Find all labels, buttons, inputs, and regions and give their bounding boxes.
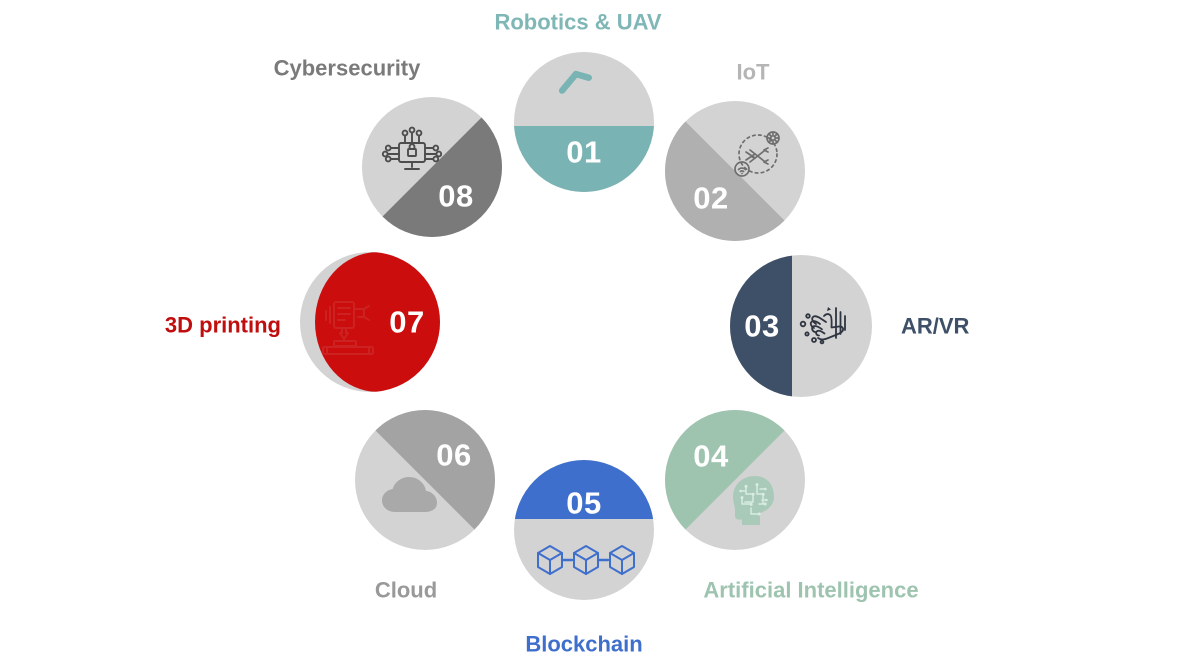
node-03-number: 03 [744,309,779,344]
node-04-artificial-intelligence[interactable]: 04 Artificial Intelligence [665,410,919,603]
node-01-number: 01 [566,135,601,170]
infographic-stage: 01 Robotics & UAV 02 IoT 03 AR/VR [0,0,1200,670]
node-02-iot[interactable]: 02 IoT [665,60,805,242]
node-04-label: Artificial Intelligence [703,578,918,603]
node-06-number: 06 [436,438,471,473]
node-08-label: Cybersecurity [274,56,422,81]
node-02-label: IoT [737,60,771,85]
node-08-number: 08 [438,179,473,214]
node-01-label: Robotics & UAV [494,10,661,35]
node-01-robotics-uav[interactable]: 01 Robotics & UAV [494,10,661,197]
node-05-label: Blockchain [525,632,642,657]
node-03-ar-vr[interactable]: 03 AR/VR [730,255,970,397]
node-06-label: Cloud [375,578,437,603]
node-02-number: 02 [693,181,728,216]
node-05-number: 05 [566,486,601,521]
node-07-number: 07 [389,305,424,340]
node-04-number: 04 [693,439,729,474]
circular-technology-diagram: 01 Robotics & UAV 02 IoT 03 AR/VR [0,0,1200,670]
node-07-3d-printing[interactable]: 07 3D printing [165,252,440,392]
node-08-cybersecurity[interactable]: 08 Cybersecurity [274,56,502,238]
node-06-cloud[interactable]: 06 Cloud [355,410,495,603]
node-03-label: AR/VR [901,314,970,339]
node-05-blockchain[interactable]: 05 Blockchain [514,460,654,657]
node-07-label: 3D printing [165,313,281,338]
